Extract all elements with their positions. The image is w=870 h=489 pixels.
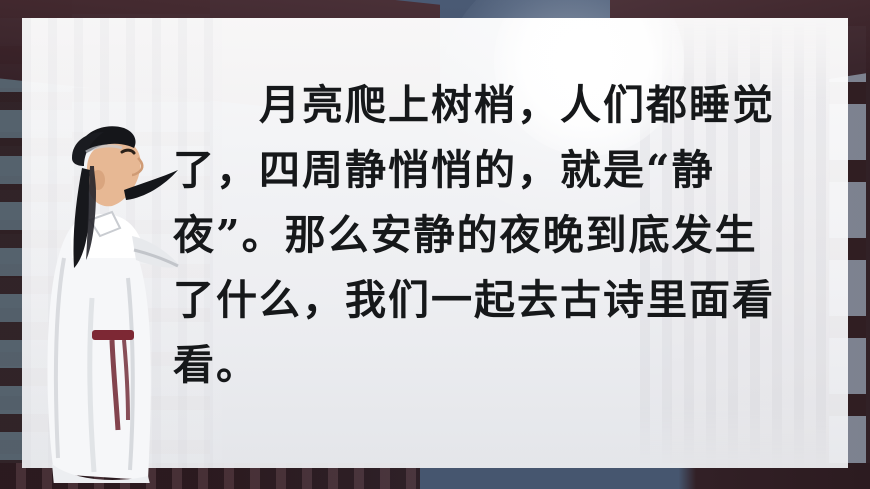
- body-line-2: 了，四周静悄悄的，就是“静: [173, 138, 823, 203]
- body-line-5: 看。: [173, 333, 823, 398]
- slide-canvas: 月亮爬上树梢，人们都睡觉 了，四周静悄悄的，就是“静 夜”。那么安静的夜晚到底发…: [0, 0, 870, 489]
- body-line-3: 夜”。那么安静的夜晚到底发生: [173, 203, 823, 268]
- slide-body-text: 月亮爬上树梢，人们都睡觉 了，四周静悄悄的，就是“静 夜”。那么安静的夜晚到底发…: [173, 73, 823, 398]
- poet-sash: [92, 330, 134, 340]
- poet-illustration: [28, 108, 188, 483]
- body-line-4: 了什么，我们一起去古诗里面看: [173, 268, 823, 333]
- body-line-1: 月亮爬上树梢，人们都睡觉: [173, 73, 823, 138]
